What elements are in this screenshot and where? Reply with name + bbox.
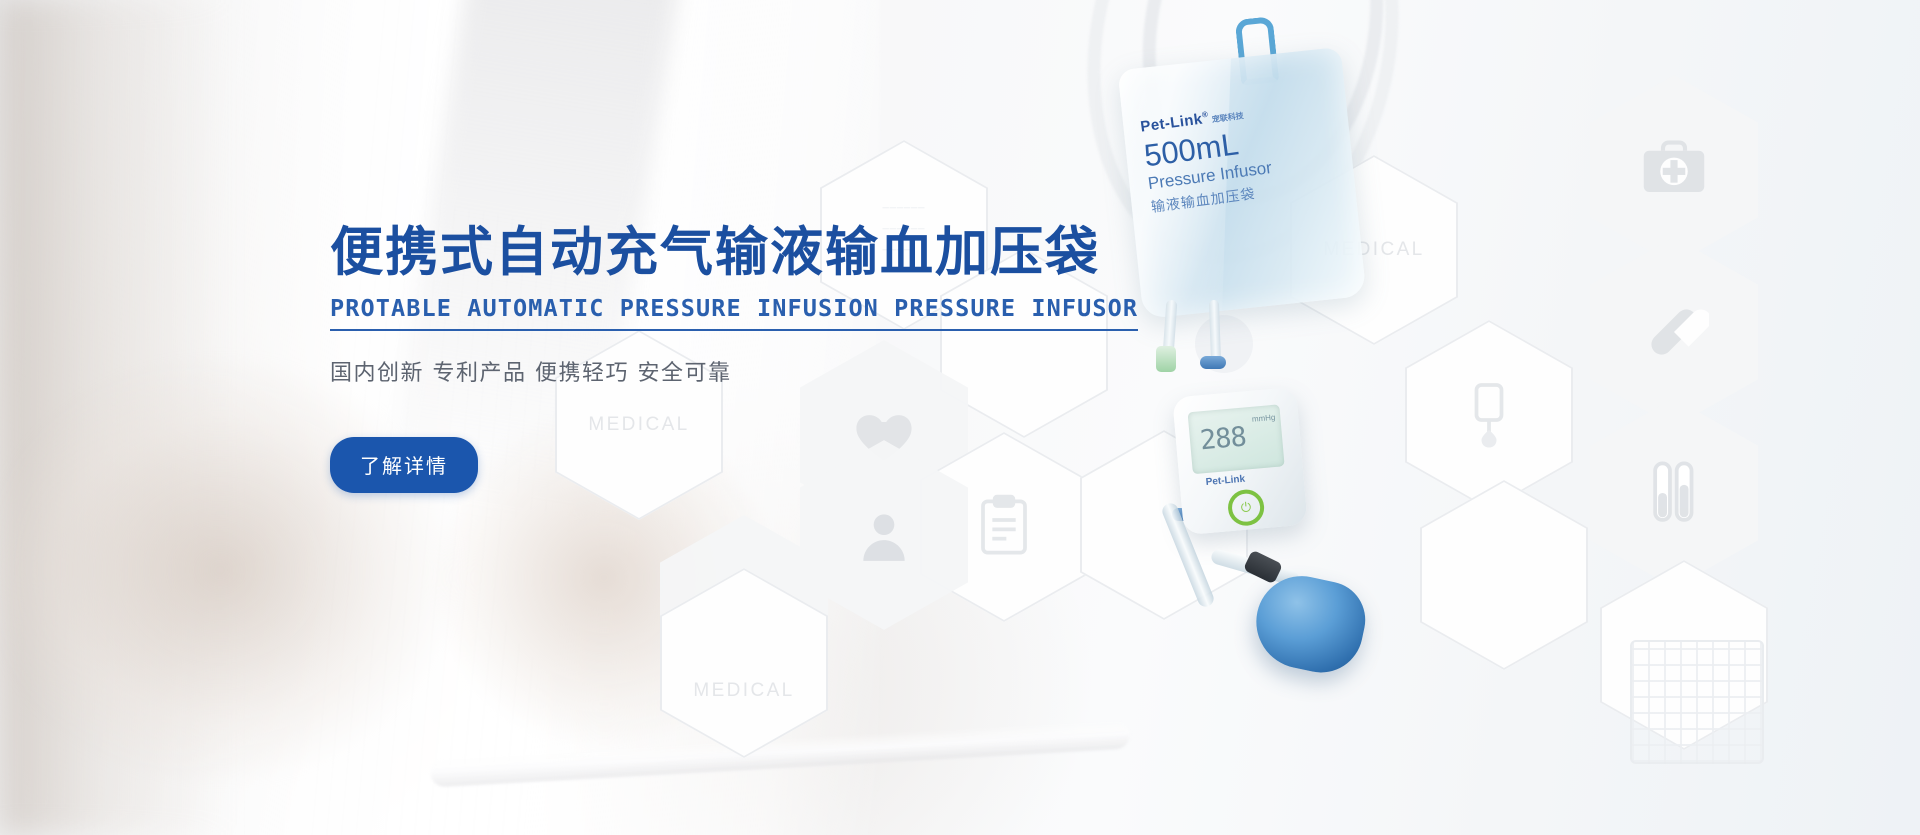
blue-valve-top <box>1200 356 1226 369</box>
pump-reading: 288 <box>1199 421 1247 456</box>
pressure-pump-device: 288 mmHg Pet-Link ⏻ <box>1172 387 1308 535</box>
green-connector <box>1156 346 1176 372</box>
pump-brand: Pet-Link <box>1205 474 1245 488</box>
power-button-icon: ⏻ <box>1227 488 1266 527</box>
hero-banner: ______________________ MEDICAL <box>0 0 1920 835</box>
learn-more-button[interactable]: 了解详情 <box>330 437 478 493</box>
bag-brand-cn: 宠联科技 <box>1211 111 1244 124</box>
subtitle-underline-wrapper: PROTABLE AUTOMATIC PRESSURE INFUSION PRE… <box>330 294 1138 331</box>
registered-mark: ® <box>1201 110 1208 120</box>
pressure-infusion-bag: Pet-Link®宠联科技 500mL Pressure Infusor 输液输… <box>1118 47 1367 319</box>
inflation-bulb <box>1248 568 1373 680</box>
pump-unit: mmHg <box>1251 413 1275 424</box>
subtitle-english: PROTABLE AUTOMATIC PRESSURE INFUSION PRE… <box>330 294 1138 322</box>
product-image: Pet-Link®宠联科技 500mL Pressure Infusor 输液输… <box>1060 0 1740 835</box>
pump-display: 288 mmHg <box>1188 404 1285 474</box>
feature-tagline: 国内创新 专利产品 便携轻巧 安全可靠 <box>330 355 1030 387</box>
hero-copy: 便携式自动充气输液输血加压袋 PROTABLE AUTOMATIC PRESSU… <box>330 222 1030 493</box>
page-title: 便携式自动充气输液输血加压袋 <box>330 222 1030 285</box>
